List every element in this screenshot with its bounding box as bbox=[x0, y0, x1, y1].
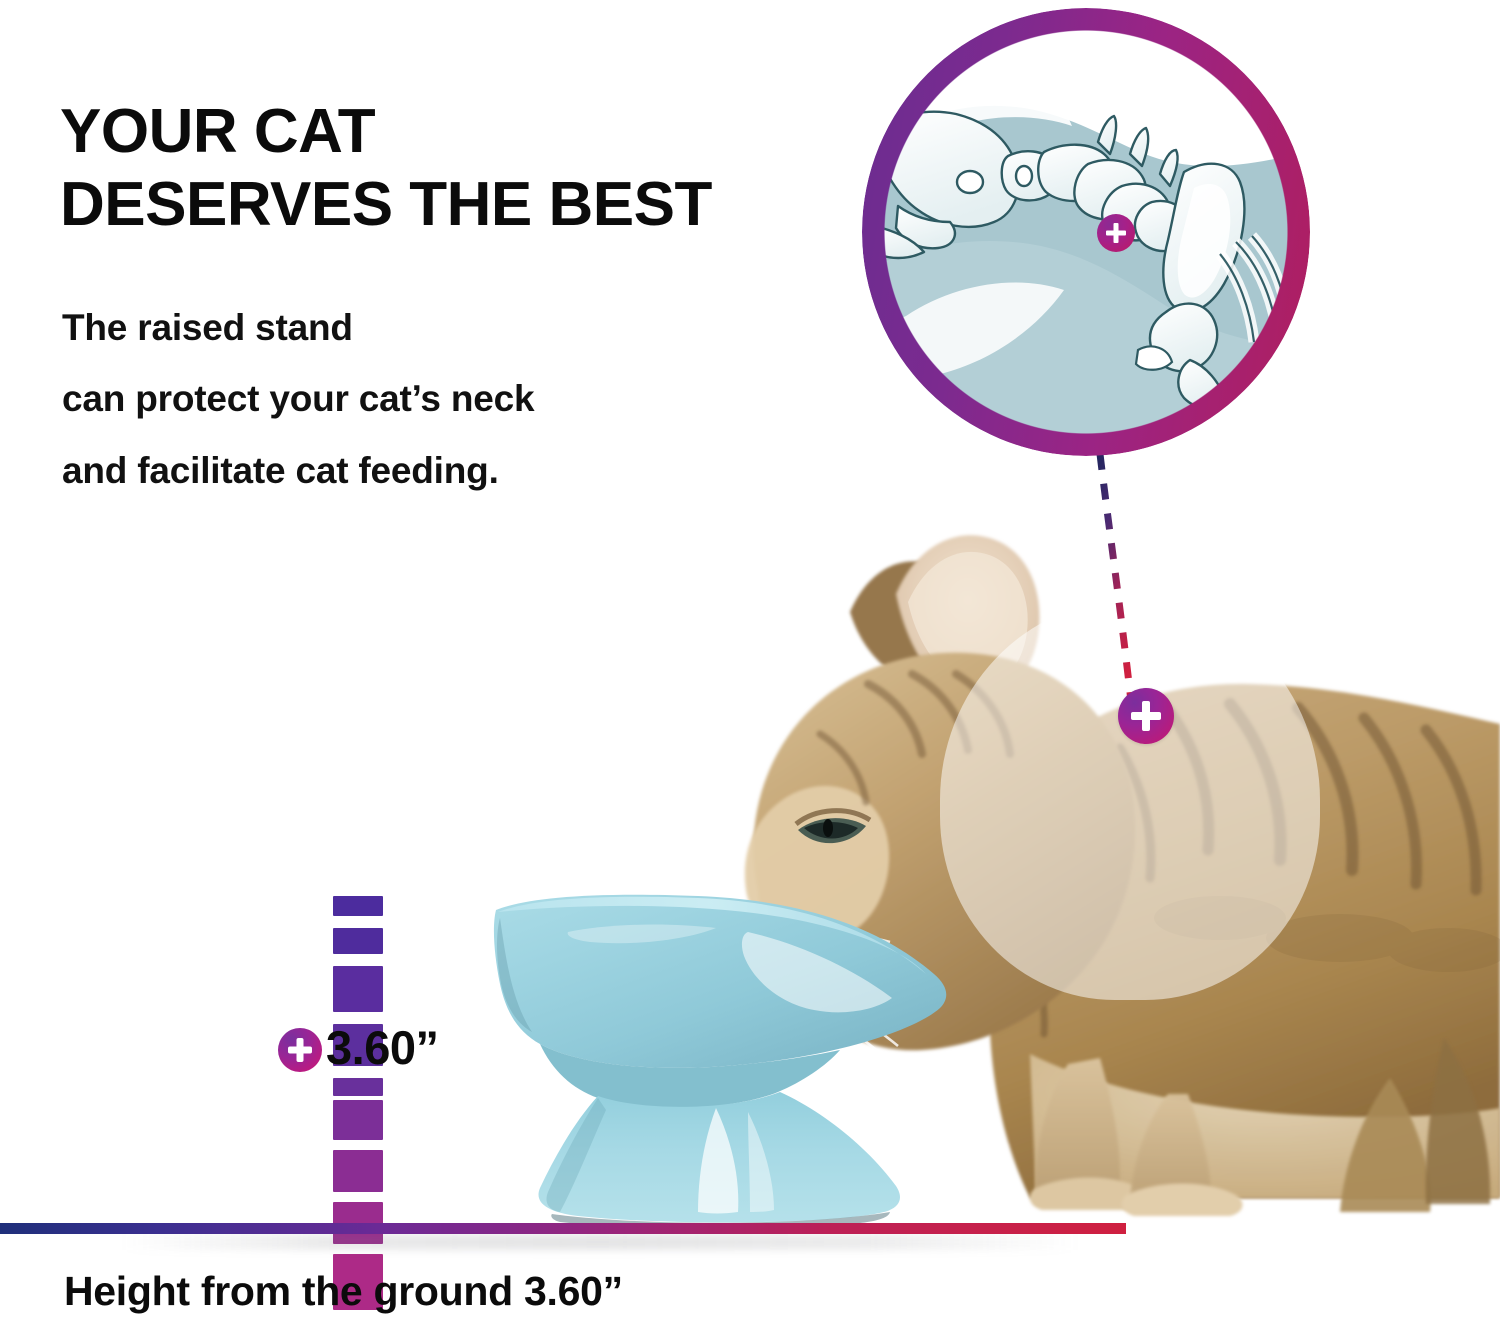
inset-ring-border bbox=[862, 8, 1310, 456]
elevated-ceramic-cat-bowl bbox=[448, 886, 978, 1230]
callout-dashed-line bbox=[1086, 452, 1166, 714]
neck-plus-marker-icon bbox=[1118, 688, 1174, 744]
ruler-segment bbox=[333, 1100, 383, 1140]
ruler-segment bbox=[333, 1078, 383, 1096]
subcopy-line-2: can protect your cat’s neck bbox=[62, 363, 782, 434]
headline-line-2: DESERVES THE BEST bbox=[60, 169, 880, 242]
ruler-plus-marker-icon bbox=[278, 1028, 322, 1072]
page-title: YOUR CAT DESERVES THE BEST bbox=[60, 96, 880, 241]
ruler-segment bbox=[333, 966, 383, 1012]
headline-line-1: YOUR CAT bbox=[60, 96, 880, 169]
subcopy-block: The raised stand can protect your cat’s … bbox=[62, 292, 782, 506]
ground-baseline bbox=[0, 1223, 1126, 1234]
ruler-height-label: 3.60” bbox=[326, 1020, 438, 1075]
subcopy-line-3: and facilitate cat feeding. bbox=[62, 435, 782, 506]
spine-plus-marker-icon bbox=[1097, 214, 1135, 252]
anatomy-inset-callout bbox=[862, 8, 1310, 456]
subcopy-line-1: The raised stand bbox=[62, 292, 782, 363]
ground-shadow bbox=[120, 1234, 1080, 1250]
ruler-segment bbox=[333, 896, 383, 916]
footer-caption: Height from the ground 3.60” bbox=[64, 1268, 623, 1315]
ruler-segment bbox=[333, 928, 383, 954]
marketing-infographic: YOUR CAT DESERVES THE BEST The raised st… bbox=[0, 0, 1500, 1333]
ruler-segment bbox=[333, 1150, 383, 1192]
